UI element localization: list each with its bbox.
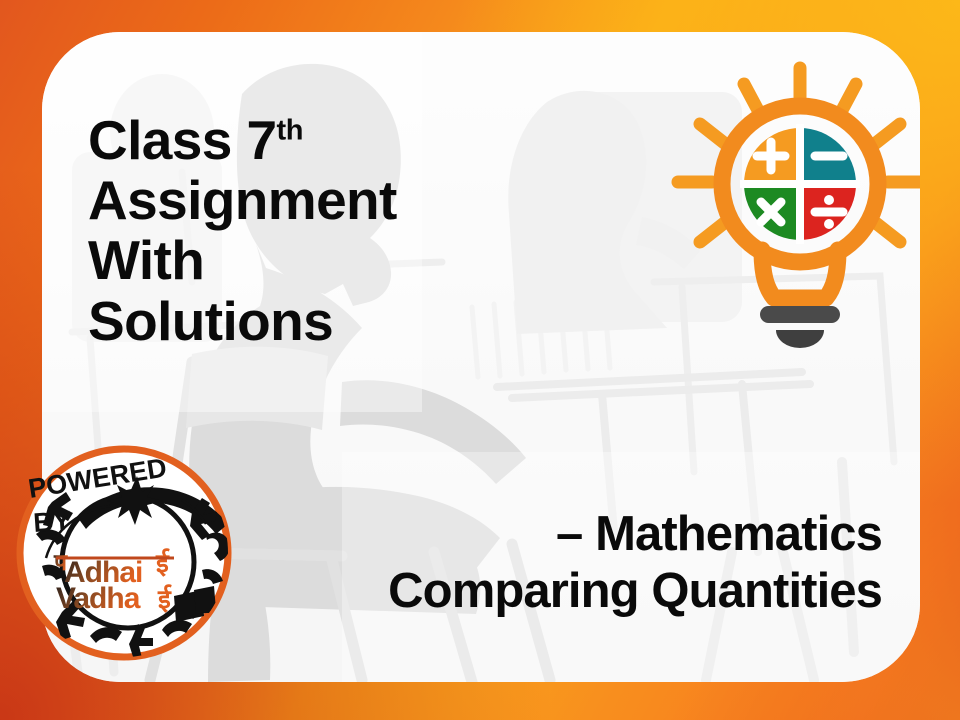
title-ordinal-suffix: th bbox=[276, 115, 303, 147]
svg-text:Vadha: Vadha bbox=[56, 582, 141, 615]
bulb-base-bar bbox=[760, 306, 840, 323]
svg-text:ई: ई bbox=[157, 584, 172, 614]
page-title: Class 7th Assignment With Solutions bbox=[88, 110, 518, 351]
powered-by-badge: POWERED BY प Adhai ई Vadha ई bbox=[6, 440, 242, 666]
title-class-text: Class 7 bbox=[88, 109, 276, 171]
title-line-solutions: Solutions bbox=[88, 291, 518, 351]
subtitle-line-subject: – Mathematics bbox=[388, 506, 882, 563]
math-lightbulb-icon bbox=[650, 54, 920, 364]
title-line-assignment: Assignment bbox=[88, 170, 518, 230]
poster-canvas: Class 7th Assignment With Solutions – Ma… bbox=[0, 0, 960, 720]
subject-subtitle: – Mathematics Comparing Quantities bbox=[388, 506, 882, 620]
title-line-class: Class 7th bbox=[88, 110, 518, 170]
title-line-with: With bbox=[88, 230, 518, 290]
svg-text:ई: ई bbox=[155, 548, 170, 578]
subtitle-line-chapter: Comparing Quantities bbox=[388, 563, 882, 620]
by-text: BY bbox=[32, 505, 72, 538]
bulb-base-tip bbox=[776, 330, 824, 348]
